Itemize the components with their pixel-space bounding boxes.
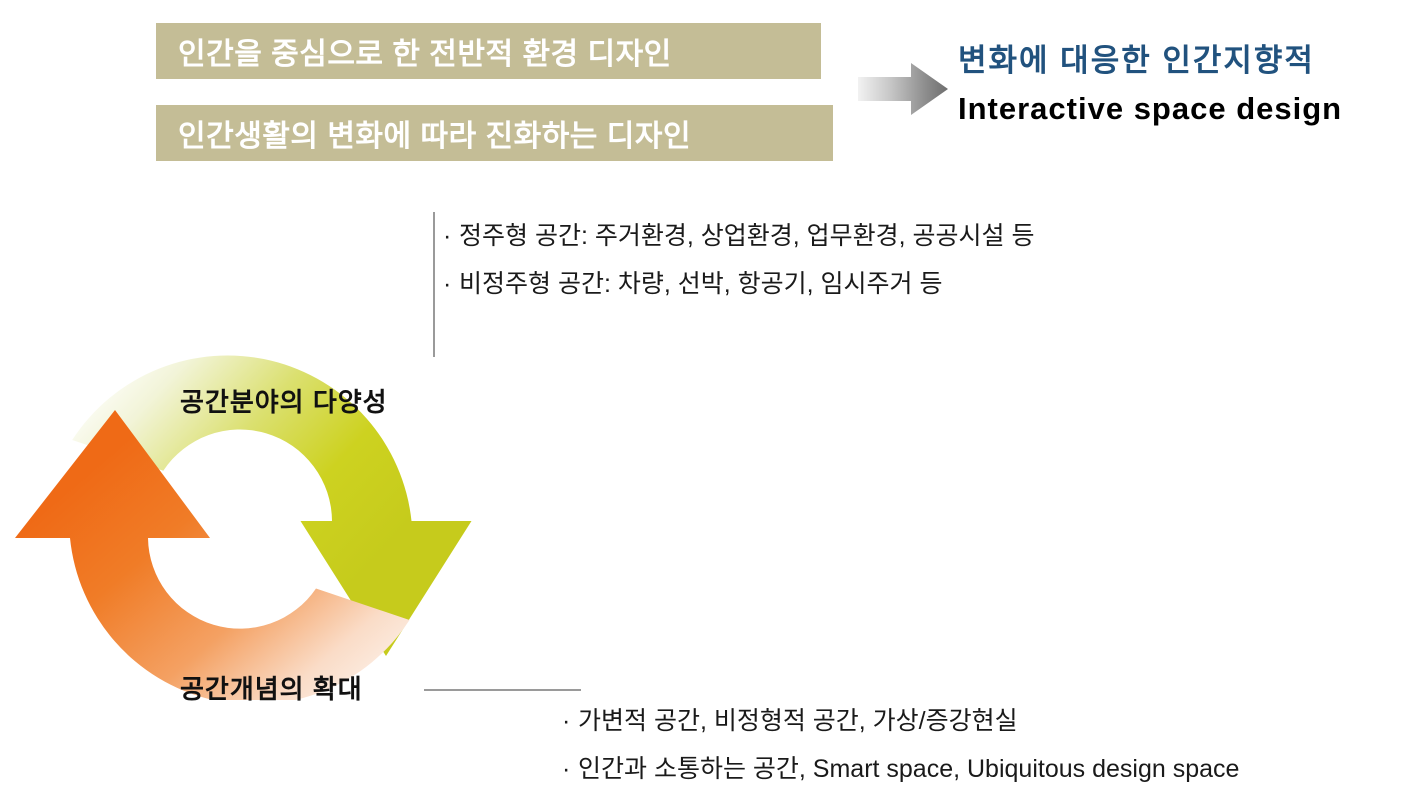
list-item-label: 비정주형 공간: 차량, 선박, 항공기, 임시주거 등 [459, 270, 942, 298]
bullet-marker: · [443, 260, 459, 308]
right-arrow-icon [856, 60, 952, 118]
headline-korean: 변화에 대응한 인간지향적 [958, 42, 1416, 81]
bullet-marker: · [562, 697, 578, 745]
cycle-diagram [10, 320, 580, 700]
list-item: ·비정주형 공간: 차량, 선박, 항공기, 임시주거 등 [443, 260, 1034, 308]
bullet-marker: · [443, 212, 459, 260]
headline-block: 변화에 대응한 인간지향적 Interactive space design [958, 42, 1416, 129]
banner-2-label: 인간생활의 변화에 따라 진화하는 디자인 [178, 111, 691, 155]
banner-human-centered-design: 인간을 중심으로 한 전반적 환경 디자인 [156, 23, 821, 79]
detail-list-bottom: ·가변적 공간, 비정형적 공간, 가상/증강현실 ·인간과 소통하는 공간, … [562, 697, 1239, 793]
cycle-label-bottom: 공간개념의 확대 [180, 669, 363, 706]
list-item: ·정주형 공간: 주거환경, 상업환경, 업무환경, 공공시설 등 [443, 212, 1034, 260]
list-item: ·인간과 소통하는 공간, Smart space, Ubiquitous de… [562, 745, 1239, 793]
banner-evolving-design: 인간생활의 변화에 따라 진화하는 디자인 [156, 105, 833, 161]
list-item: ·가변적 공간, 비정형적 공간, 가상/증강현실 [562, 697, 1239, 745]
banner-1-label: 인간을 중심으로 한 전반적 환경 디자인 [178, 29, 672, 73]
list-item-label: 가변적 공간, 비정형적 공간, 가상/증강현실 [578, 707, 1018, 735]
headline-english: Interactive space design [958, 89, 1416, 129]
bullet-marker: · [562, 745, 578, 793]
slide-canvas: 인간을 중심으로 한 전반적 환경 디자인 인간생활의 변화에 따라 진화하는 … [0, 0, 1416, 806]
cycle-label-top: 공간분야의 다양성 [180, 382, 388, 419]
list-item-label: 인간과 소통하는 공간, Smart space, Ubiquitous des… [578, 755, 1239, 783]
detail-list-top: ·정주형 공간: 주거환경, 상업환경, 업무환경, 공공시설 등 ·비정주형 … [443, 212, 1034, 308]
list-item-label: 정주형 공간: 주거환경, 상업환경, 업무환경, 공공시설 등 [459, 222, 1034, 250]
